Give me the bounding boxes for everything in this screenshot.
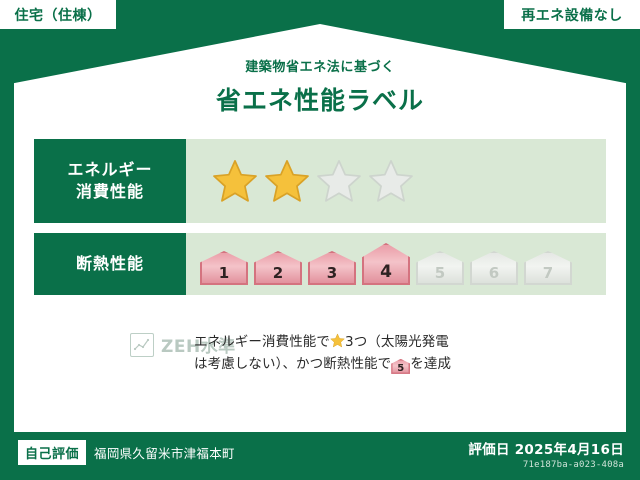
zeh-desc-part1: エネルギー消費性能で bbox=[194, 334, 330, 350]
zeh-desc-line2-post: を達成 bbox=[410, 356, 451, 372]
badge-level-number: 2 bbox=[273, 264, 283, 282]
renewable-equipment-tag: 再エネ設備なし bbox=[504, 0, 640, 29]
insulation-level-badge: 7 bbox=[524, 251, 572, 285]
star-filled-icon bbox=[264, 158, 310, 204]
zeh-section: ZEH水準 エネルギー消費性能で 3つ（太陽光発電 は考慮しない）、かつ断熱性能… bbox=[34, 332, 606, 376]
badge-level-number: 4 bbox=[380, 262, 392, 282]
zeh-mark: ZEH水準 bbox=[34, 332, 194, 357]
property-address: 福岡県久留米市津福本町 bbox=[94, 443, 235, 462]
badge-level-number: 7 bbox=[543, 264, 553, 282]
label-title: 建築物省エネ法に基づく 省エネ性能ラベル bbox=[0, 56, 640, 117]
insulation-level-badge: 4 bbox=[362, 243, 410, 285]
insulation-performance-row: 断熱性能 1234567 bbox=[34, 233, 606, 295]
badge-level-number: 6 bbox=[489, 264, 499, 282]
insulation-level-badge: 2 bbox=[254, 251, 302, 285]
energy-label-card: 住宅（住棟） 再エネ設備なし 建築物省エネ法に基づく 省エネ性能ラベル エネルギ… bbox=[0, 0, 640, 480]
self-evaluation-badge: 自己評価 bbox=[18, 440, 86, 465]
star-empty-icon bbox=[368, 158, 414, 204]
zeh-description: エネルギー消費性能で 3つ（太陽光発電 は考慮しない）、かつ断熱性能で5を達成 bbox=[194, 332, 451, 376]
evaluation-date: 評価日 2025年4月16日 bbox=[468, 438, 624, 458]
zeh-desc-line2-pre: は考慮しない）、かつ断熱性能で bbox=[194, 356, 391, 372]
title-subtitle: 建築物省エネ法に基づく bbox=[0, 56, 640, 75]
label-footer: 自己評価 福岡県久留米市津福本町 評価日 2025年4月16日 71e187ba… bbox=[0, 432, 640, 480]
insulation-performance-label: 断熱性能 bbox=[34, 233, 186, 295]
star-empty-icon bbox=[316, 158, 362, 204]
inline-insulation-badge: 5 bbox=[391, 359, 410, 374]
document-id: 71e187ba-a023-408a bbox=[468, 460, 624, 470]
energy-performance-row: エネルギー 消費性能 bbox=[34, 139, 606, 223]
building-type-tag: 住宅（住棟） bbox=[0, 0, 116, 29]
chart-square-icon bbox=[130, 333, 154, 357]
star-filled-icon bbox=[212, 158, 258, 204]
badge-level-number: 1 bbox=[219, 264, 229, 282]
star-rating bbox=[186, 139, 606, 223]
title-main: 省エネ性能ラベル bbox=[0, 81, 640, 117]
energy-label-line1: エネルギー bbox=[67, 159, 152, 181]
energy-performance-label: エネルギー 消費性能 bbox=[34, 139, 186, 223]
insulation-level-badge: 1 bbox=[200, 251, 248, 285]
badge-level-number: 5 bbox=[435, 264, 445, 282]
insulation-level-scale: 1234567 bbox=[186, 243, 572, 285]
insulation-level-badge: 5 bbox=[416, 251, 464, 285]
insulation-label-text: 断熱性能 bbox=[76, 253, 144, 275]
energy-label-line2: 消費性能 bbox=[76, 181, 144, 203]
zeh-desc-star-count: 3つ（太陽光発電 bbox=[345, 334, 449, 350]
badge-level-number: 3 bbox=[327, 264, 337, 282]
inline-star-icon bbox=[330, 333, 345, 348]
insulation-level-badge: 3 bbox=[308, 251, 356, 285]
insulation-level-badge: 6 bbox=[470, 251, 518, 285]
